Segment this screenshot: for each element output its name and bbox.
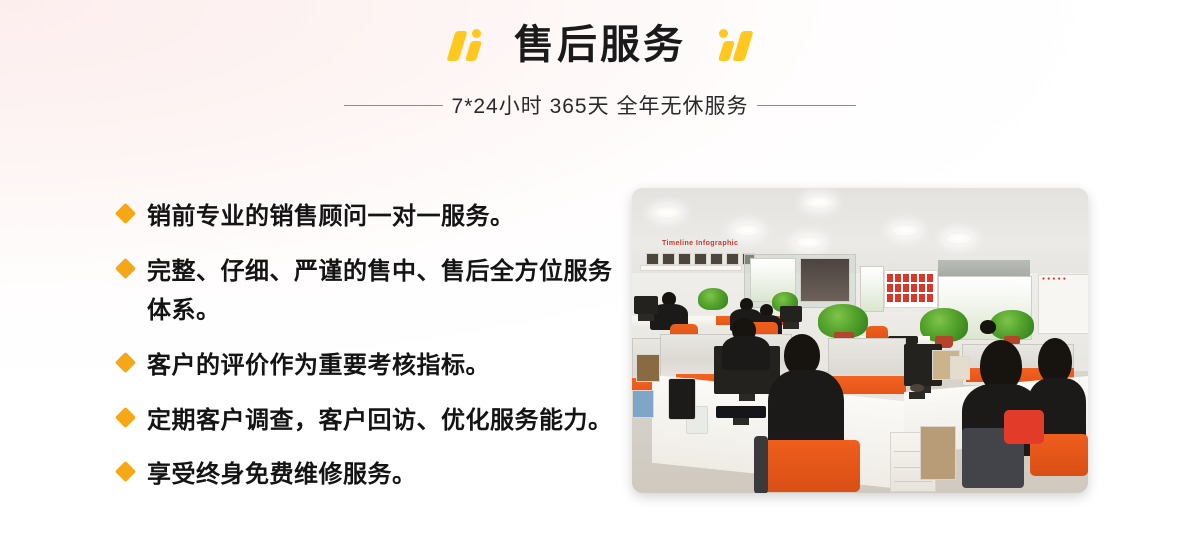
- photo-whiteboard-header: ● ● ● ● ●: [1042, 276, 1066, 282]
- photo-wall-strip: [640, 265, 742, 271]
- diamond-bullet-icon: [115, 203, 136, 224]
- list-item: 定期客户调查，客户回访、优化服务能力。: [118, 402, 628, 441]
- photo-ceiling-light: [794, 236, 824, 249]
- photo-ceiling-light: [804, 196, 834, 209]
- photo-person-head: [980, 320, 996, 334]
- diamond-bullet-icon: [115, 461, 136, 482]
- mark-stroke-large: [446, 31, 467, 61]
- list-item-label: 完整、仔细、严谨的售中、售后全方位服务体系。: [147, 253, 628, 331]
- photo-award-grid: [887, 274, 933, 302]
- page-subtitle: 7*24小时 365天 全年无休服务: [452, 90, 749, 120]
- photo-keyboard: [716, 406, 766, 418]
- office-photo-scene: Timeline Infographic ● ● ● ● ●: [632, 188, 1088, 493]
- diamond-bullet-icon: [115, 258, 136, 279]
- title-row: 售后服务: [0, 16, 1200, 74]
- list-item-label: 销前专业的销售顾问一对一服务。: [147, 198, 515, 237]
- photo-desk-tray: [636, 354, 660, 382]
- feature-list: 销前专业的销售顾问一对一服务。 完整、仔细、严谨的售中、售后全方位服务体系。 客…: [118, 198, 628, 511]
- photo-wall-frames: [646, 253, 755, 265]
- photo-chair: [760, 440, 860, 492]
- photo-chair-frame: [754, 436, 768, 493]
- rule-right-2: [804, 105, 856, 106]
- list-item: 客户的评价作为重要考核指标。: [118, 347, 628, 386]
- photo-whiteboard: [1038, 274, 1088, 334]
- diamond-bullet-icon: [115, 352, 136, 373]
- office-photo: Timeline Infographic ● ● ● ● ●: [632, 188, 1088, 493]
- photo-chair-cushion: [1004, 410, 1044, 444]
- section-content: 销前专业的销售顾问一对一服务。 完整、仔细、严谨的售中、售后全方位服务体系。 客…: [0, 160, 1200, 556]
- photo-cabinet: [920, 426, 956, 480]
- photo-window: [800, 258, 850, 302]
- photo-desk-bag: [668, 378, 696, 420]
- rule-left-2: [391, 105, 443, 106]
- photo-ceiling-light: [732, 224, 762, 237]
- list-item: 享受终身免费维修服务。: [118, 456, 628, 495]
- photo-plant: [698, 288, 728, 310]
- mark-dot: [472, 29, 481, 38]
- photo-desk-box: [632, 390, 654, 418]
- photo-monitor: [634, 296, 658, 314]
- page-title: 售后服务: [514, 25, 686, 65]
- list-item-label: 享受终身免费维修服务。: [147, 456, 417, 495]
- photo-wall-text: Timeline Infographic: [662, 240, 738, 247]
- photo-person-body: [722, 336, 770, 370]
- list-item-label: 定期客户调查，客户回访、优化服务能力。: [147, 402, 613, 441]
- photo-ceiling-light: [890, 224, 920, 237]
- photo-ceiling-light: [944, 232, 974, 245]
- photo-monitor: [780, 306, 802, 322]
- rule-right: [757, 105, 809, 106]
- rule-left: [344, 105, 396, 106]
- diamond-bullet-icon: [115, 406, 136, 427]
- double-slash-mark-right-icon: [712, 24, 752, 66]
- photo-ceiling-light: [652, 206, 682, 219]
- photo-partition-band: [832, 376, 906, 394]
- section-header: 售后服务 7*24小时 365天 全年无休服务: [0, 0, 1200, 120]
- photo-window-blind: [938, 260, 1030, 276]
- photo-window: [860, 266, 884, 312]
- photo-mouse: [910, 384, 924, 392]
- list-item: 完整、仔细、严谨的售中、售后全方位服务体系。: [118, 253, 628, 331]
- mark-dot: [719, 29, 728, 38]
- subtitle-row: 7*24小时 365天 全年无休服务: [0, 90, 1200, 120]
- photo-desk-files: [950, 356, 970, 380]
- mark-stroke-small: [465, 41, 482, 61]
- list-item-label: 客户的评价作为重要考核指标。: [147, 347, 490, 386]
- list-item: 销前专业的销售顾问一对一服务。: [118, 198, 628, 237]
- double-slash-mark-left-icon: [448, 24, 488, 66]
- mark-stroke-large: [732, 31, 753, 61]
